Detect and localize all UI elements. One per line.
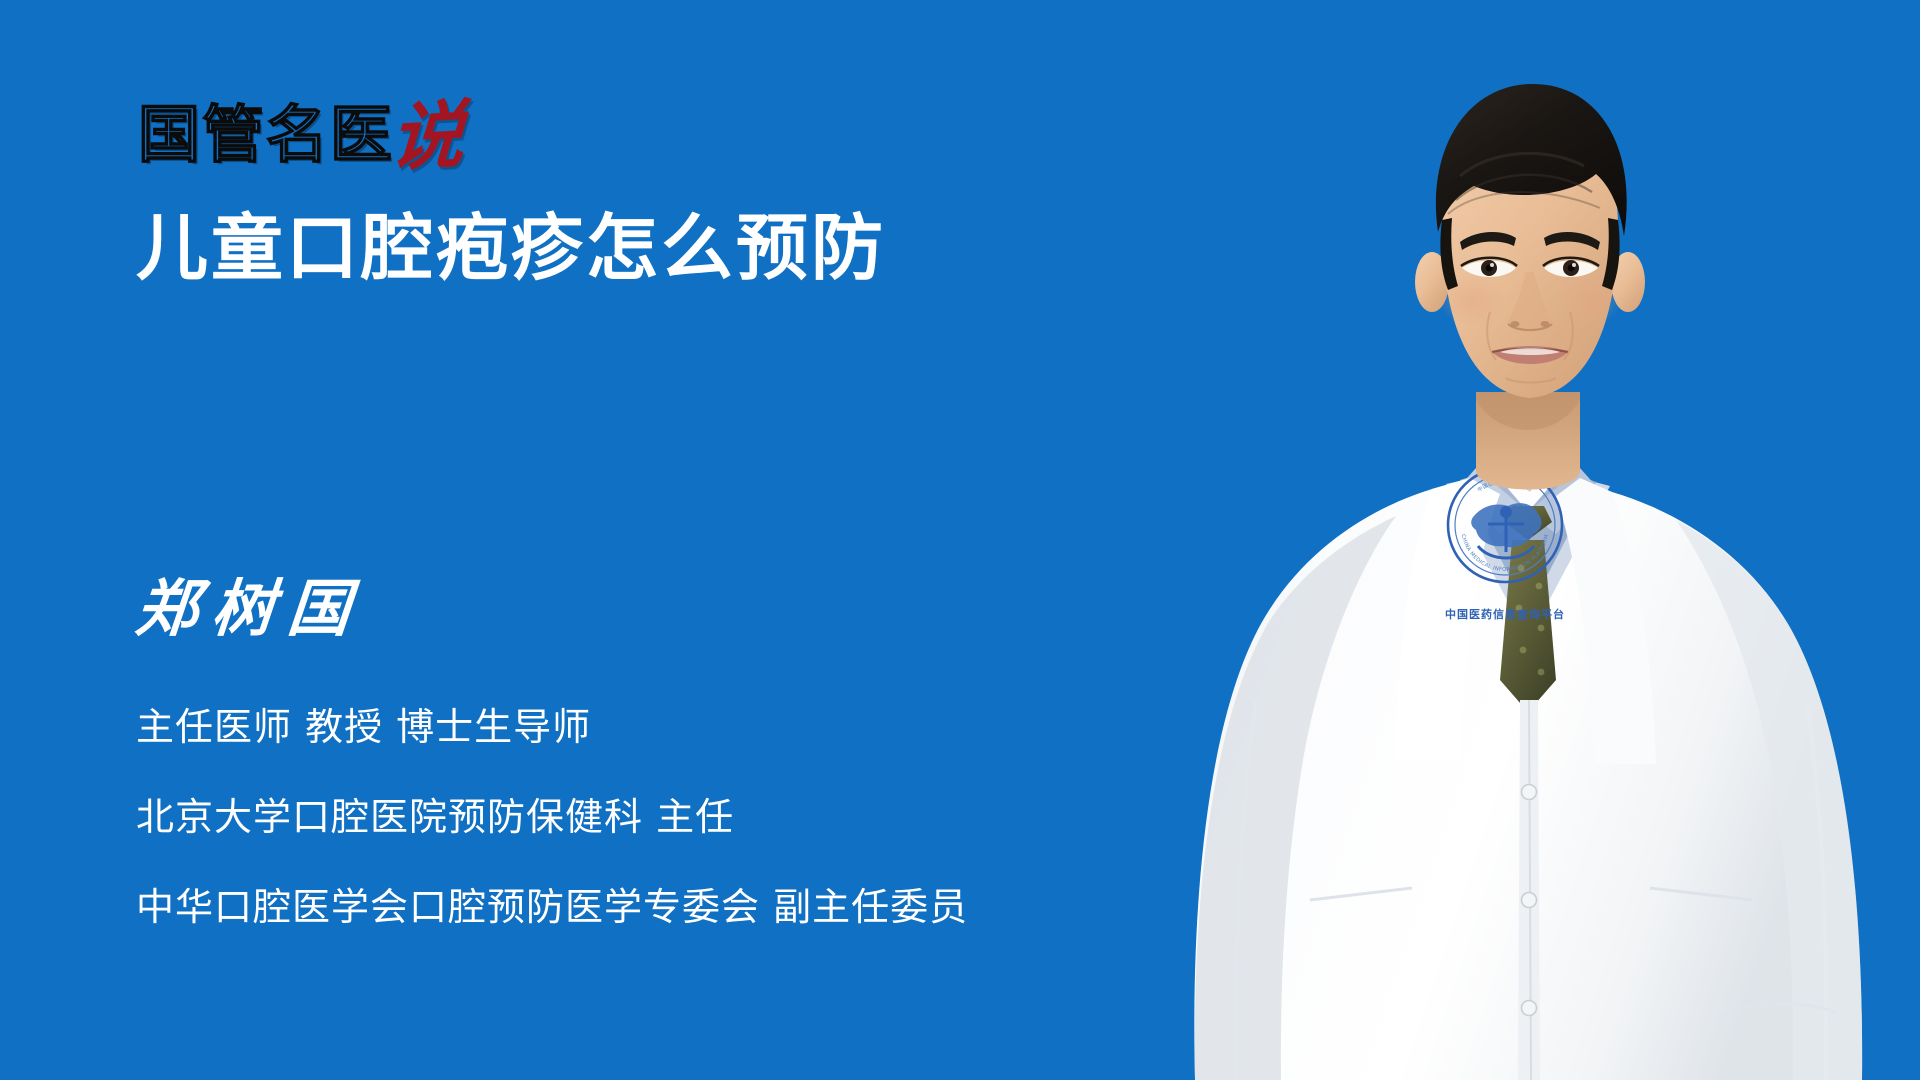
poster-canvas: 国管名医 说 儿童口腔疱疹怎么预防 郑树国 主任医师 教授 博士生导师 北京大学…: [0, 0, 1920, 1080]
doctor-credentials: 主任医师 教授 博士生导师 北京大学口腔医院预防保健科 主任 中华口腔医学会口腔…: [136, 708, 968, 926]
doctor-portrait-illustration: 中国医药信息查询平台 CHINA MEDICAL INFORMATION PLA…: [1160, 0, 1920, 1080]
doctor-portrait: 中国医药信息查询平台 CHINA MEDICAL INFORMATION PLA…: [1160, 0, 1920, 1080]
coat-button-3: [1522, 1001, 1537, 1016]
page-title: 儿童口腔疱疹怎么预防: [136, 208, 886, 289]
badge-caption: 中国医药信息查询平台: [1445, 607, 1565, 621]
brand-logo-accent-text: 说: [388, 100, 466, 174]
nostril-right: [1541, 321, 1550, 327]
nostril-left: [1511, 321, 1520, 327]
credential-line-3: 中华口腔医学会口腔预防医学专委会 副主任委员: [136, 888, 968, 926]
coat-button-2: [1522, 893, 1537, 908]
brand-logo: 国管名医 说: [138, 88, 464, 166]
credential-line-1: 主任医师 教授 博士生导师: [136, 708, 968, 746]
coat-button-1: [1522, 785, 1537, 800]
doctor-name: 郑树国: [133, 578, 366, 640]
brand-logo-main-text: 国管名医: [138, 104, 394, 166]
credential-line-2: 北京大学口腔医院预防保健科 主任: [136, 798, 968, 836]
